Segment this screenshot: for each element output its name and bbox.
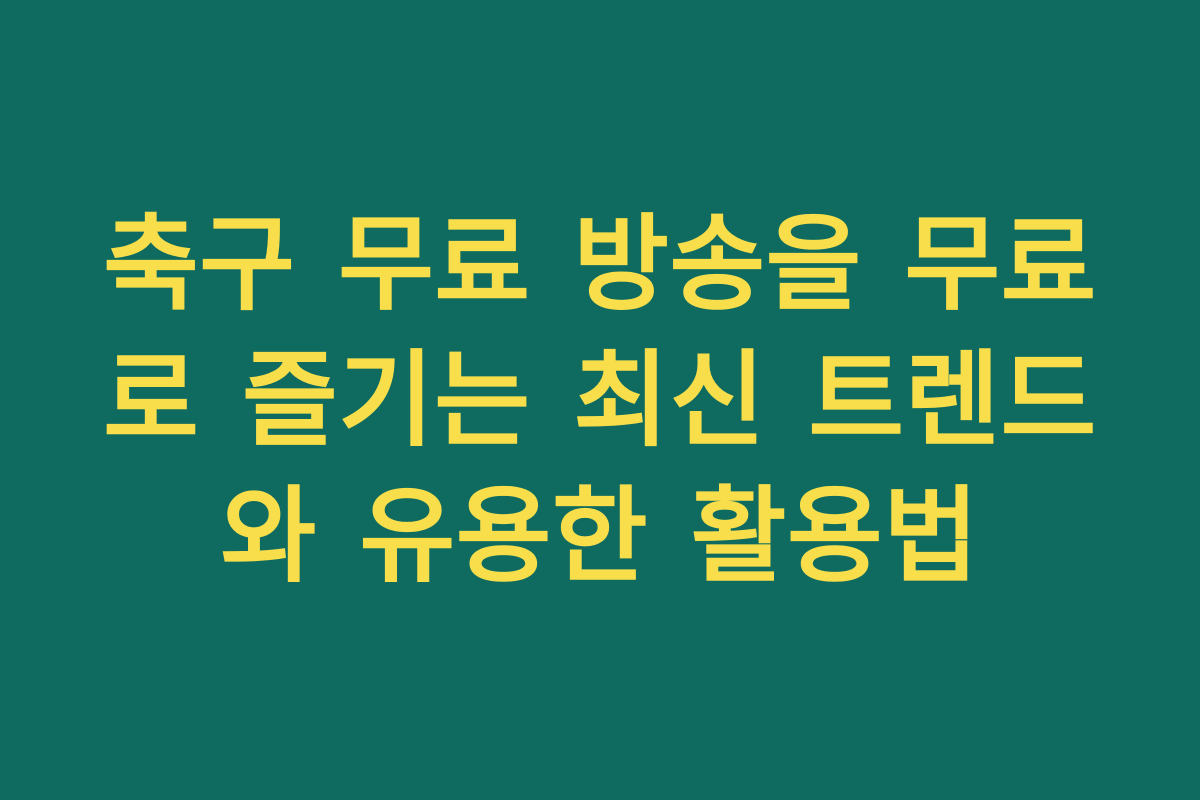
headline-line-3: 와 유용한 활용법	[95, 468, 1105, 604]
banner-background: 축구 무료 방송을 무료 로 즐기는 최신 트렌드 와 유용한 활용법	[0, 0, 1200, 800]
headline-line-1: 축구 무료 방송을 무료	[95, 196, 1105, 332]
headline-line-2: 로 즐기는 최신 트렌드	[95, 332, 1105, 468]
headline-text: 축구 무료 방송을 무료 로 즐기는 최신 트렌드 와 유용한 활용법	[95, 196, 1105, 604]
